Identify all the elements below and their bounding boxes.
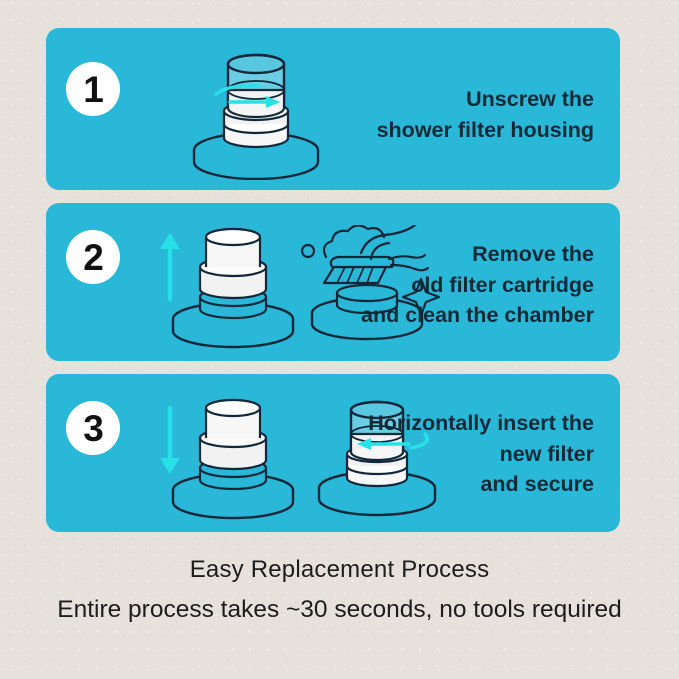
cartridge-lift-diagram [138, 223, 308, 361]
step-panel-3: 3 [46, 374, 620, 532]
step-text-1-line-1: Unscrew the [377, 84, 594, 115]
instruction-board: 1 Unscrew [0, 0, 679, 679]
step-text-2: Remove the old filter cartridge and clea… [361, 239, 594, 331]
caption-title: Easy Replacement Process [0, 556, 679, 584]
step-text-3-line-1: Horizontally insert the [368, 408, 594, 439]
step-text-3-line-3: and secure [368, 469, 594, 500]
step-number-badge-1: 1 [66, 62, 120, 116]
step-text-1-line-2: shower filter housing [377, 115, 594, 146]
step-panel-1: 1 Unscrew [46, 28, 620, 190]
step-text-1: Unscrew the shower filter housing [377, 84, 594, 145]
step-number-badge-2: 2 [66, 230, 120, 284]
step-panel-2: 2 [46, 203, 620, 361]
step-text-2-line-1: Remove the [361, 239, 594, 270]
cartridge-insert-diagram [138, 394, 308, 532]
step-text-2-line-3: and clean the chamber [361, 300, 594, 331]
step-text-2-line-2: old filter cartridge [361, 270, 594, 301]
caption-subtitle: Entire process takes ~30 seconds, no too… [0, 596, 679, 624]
housing-rotate-diagram [166, 50, 346, 190]
step-text-3: Horizontally insert the new filter and s… [368, 408, 594, 500]
step-number-badge-3: 3 [66, 401, 120, 455]
step-text-3-line-2: new filter [368, 439, 594, 470]
